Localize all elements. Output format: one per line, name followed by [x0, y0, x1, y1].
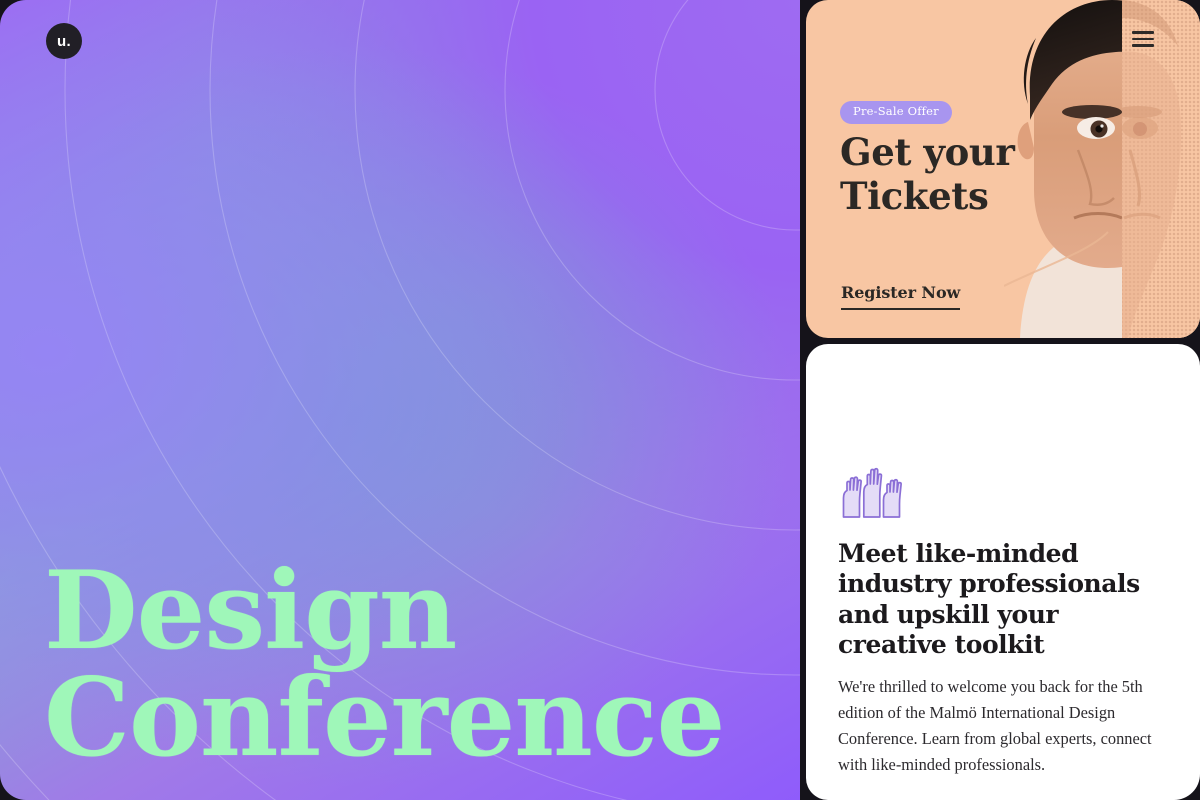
hero-panel: u. Design Conference: [0, 0, 800, 800]
info-card-heading: Meet like-minded industry professionals …: [838, 539, 1174, 660]
landing-page: u. Design Conference: [0, 0, 1200, 800]
page-title: Design Conference: [44, 558, 724, 772]
info-card-body: We're thrilled to welcome you back for t…: [838, 674, 1174, 778]
hero-title-line-1: Design: [44, 558, 724, 665]
brand-logo-icon[interactable]: u.: [46, 23, 82, 59]
tickets-title-line-2: Tickets: [840, 175, 1014, 219]
register-now-link[interactable]: Register Now: [841, 283, 960, 310]
portrait-image: [1004, 0, 1200, 338]
menu-bar-1: [1132, 31, 1154, 34]
raised-hands-icon: [838, 466, 902, 518]
tickets-title: Get your Tickets: [840, 131, 1014, 218]
info-card: Meet like-minded industry professionals …: [806, 344, 1200, 800]
hero-title-line-2: Conference: [44, 665, 724, 772]
tickets-title-line-1: Get your: [840, 131, 1014, 175]
menu-bar-2: [1132, 38, 1154, 41]
hamburger-menu-icon[interactable]: [1132, 31, 1154, 47]
status-badge: Pre-Sale Offer: [840, 101, 952, 124]
brand-logo-text: u.: [57, 34, 71, 49]
tickets-card: Pre-Sale Offer Get your Tickets Register…: [806, 0, 1200, 338]
menu-bar-3: [1132, 44, 1154, 47]
